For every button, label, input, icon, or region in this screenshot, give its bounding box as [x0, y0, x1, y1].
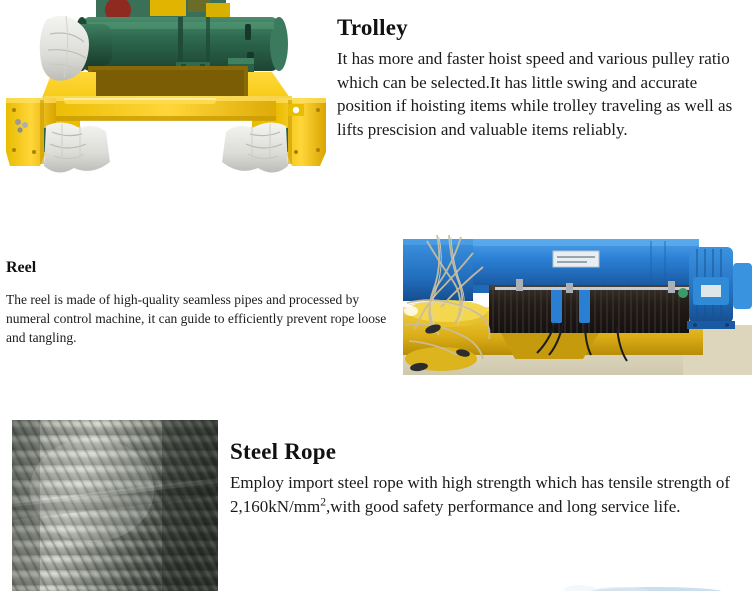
trolley-heading: Trolley — [337, 14, 749, 41]
next-image-peek-illustration — [560, 576, 752, 591]
page-root: Trolley It has more and faster hoist spe… — [0, 0, 752, 591]
steel-rope-illustration — [12, 420, 218, 591]
wrapped-wheel-right — [222, 122, 288, 172]
reel-photo — [403, 233, 752, 375]
reel-body: The reel is made of high-quality seamles… — [6, 290, 396, 347]
reel-illustration — [403, 233, 752, 375]
steel-rope-heading: Steel Rope — [230, 438, 746, 465]
next-image-peek — [560, 576, 752, 591]
steel-rope-body: Employ import steel rope with high stren… — [230, 471, 746, 518]
steel-rope-text-block: Steel Rope Employ import steel rope with… — [230, 438, 746, 518]
trolley-photo — [0, 0, 332, 182]
reel-text-block: Reel The reel is made of high-quality se… — [6, 258, 396, 347]
trolley-body: It has more and faster hoist speed and v… — [337, 47, 749, 141]
steel-rope-body-tail: ,with good safety performance and long s… — [326, 497, 681, 516]
steel-rope-photo — [12, 420, 218, 591]
trolley-text-block: Trolley It has more and faster hoist spe… — [337, 14, 749, 141]
trolley-illustration — [0, 0, 332, 182]
wrapped-wheel-left — [44, 122, 110, 172]
reel-heading: Reel — [6, 258, 396, 278]
